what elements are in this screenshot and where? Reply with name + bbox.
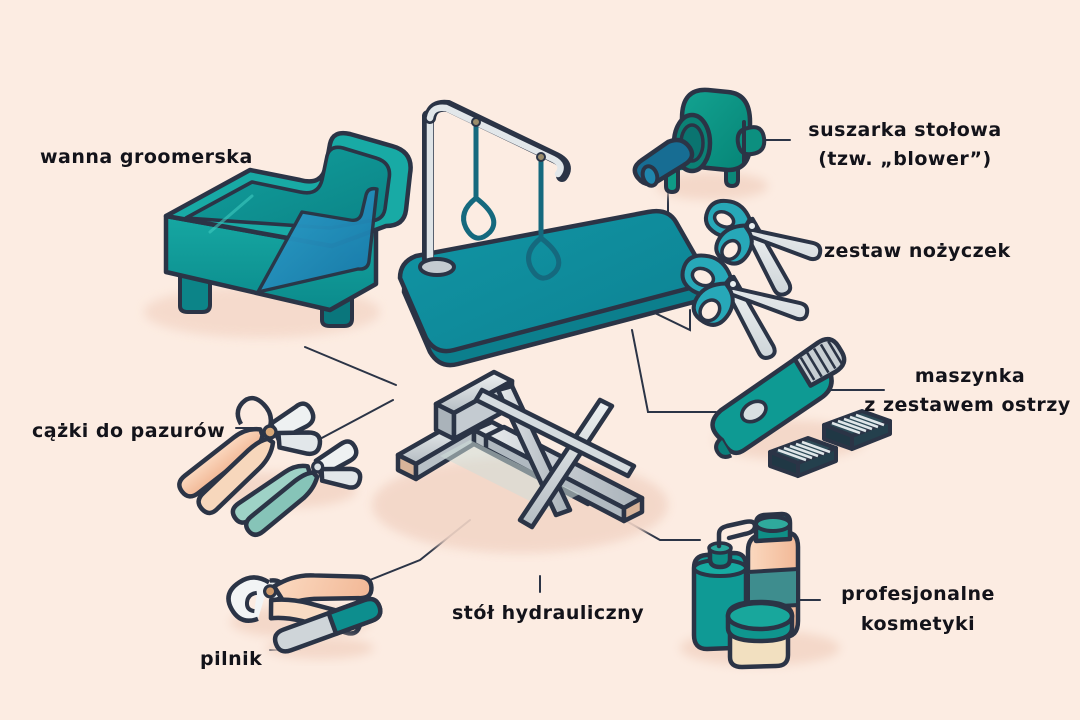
label-pilnik: pilnik <box>200 646 262 674</box>
infographic-canvas: Anatomia stanowiska pracy groomera <box>0 0 1080 720</box>
label-maszynka: maszynka <box>870 363 1070 391</box>
label-zestaw-nozyczek: zestaw nożyczek <box>824 238 1011 266</box>
label-kosmetyki: kosmetyki <box>818 611 1018 639</box>
label-suszarka-blower: (tzw. „blower”) <box>800 146 1010 174</box>
label-wanna-groomerska: wanna groomerska <box>40 144 253 172</box>
label-cazki-do-pazurow: cążki do pazurów <box>32 418 225 446</box>
label-suszarka-stolowa: suszarka stołowa <box>800 117 1010 145</box>
label-profesjonalne: profesjonalne <box>818 581 1018 609</box>
label-zestaw-ostrzy: z zestawem ostrzy <box>860 392 1075 420</box>
label-stol-hydrauliczny: stół hydrauliczny <box>452 600 644 628</box>
